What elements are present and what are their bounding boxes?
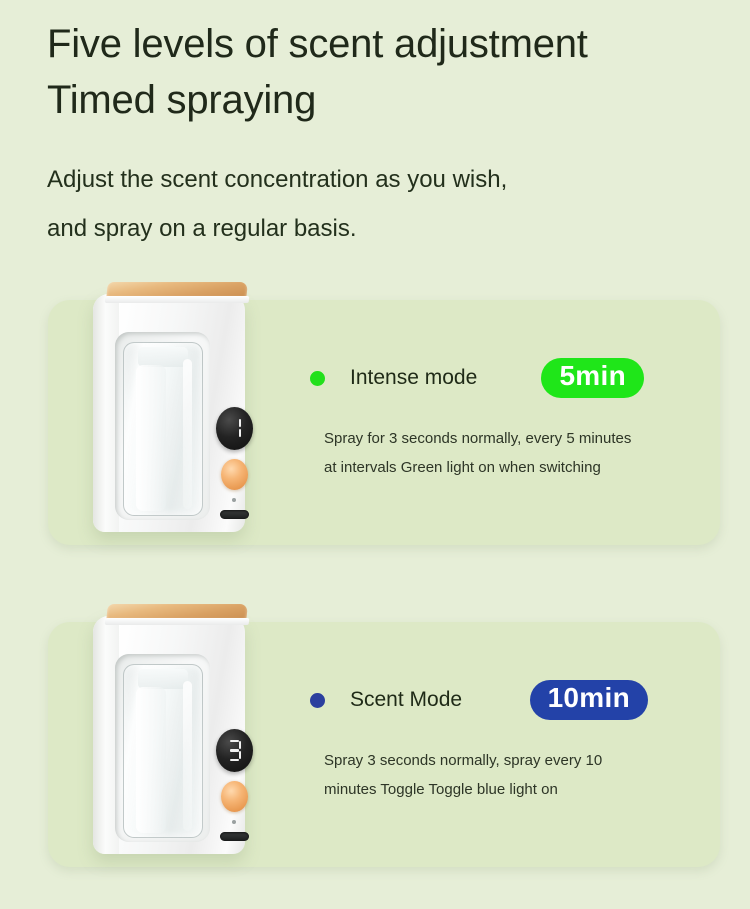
device-led-indicator	[232, 498, 236, 502]
description-line-2: at intervals Green light on when switchi…	[324, 453, 702, 482]
description-line-1: Spray 3 seconds normally, spray every 10	[324, 746, 702, 775]
subline-line-2: and spray on a regular basis.	[47, 207, 707, 250]
mode-row: Intense mode 5min	[310, 358, 710, 398]
description-line-2: minutes Toggle Toggle blue light on	[324, 775, 702, 804]
device-power-button[interactable]	[221, 781, 248, 812]
device-illustration	[85, 282, 251, 534]
mode-label: Intense mode	[350, 366, 477, 390]
card-content-intense: Intense mode 5min Spray for 3 seconds no…	[310, 358, 710, 482]
bottle-highlight	[183, 359, 192, 509]
segment-b	[239, 741, 242, 749]
duration-badge: 10min	[530, 680, 648, 719]
segment-d	[230, 759, 239, 762]
headline-line-1: Five levels of scent adjustment	[47, 16, 707, 72]
display-digit-1	[228, 418, 241, 440]
device-liquid-bottle	[123, 664, 203, 838]
mode-bullet-icon	[310, 693, 325, 708]
display-digit-3	[228, 740, 241, 762]
device-power-button[interactable]	[221, 459, 248, 490]
segment-a	[230, 740, 239, 743]
header-block: Five levels of scent adjustment Timed sp…	[47, 16, 707, 250]
bottle-neck	[138, 347, 188, 367]
device-led-indicator	[232, 820, 236, 824]
segment-c	[239, 751, 242, 759]
mode-row: Scent Mode 10min	[310, 680, 710, 720]
device-cap-lip	[105, 618, 250, 625]
device-liquid-bottle	[123, 342, 203, 516]
duration-badge: 5min	[541, 358, 644, 397]
mode-description: Spray for 3 seconds normally, every 5 mi…	[324, 424, 702, 482]
bottle-liquid	[136, 687, 166, 833]
segment-c	[239, 429, 242, 437]
product-infographic-page: { "page": { "background_color": "#e6eed7…	[0, 0, 750, 909]
device-cap-lip	[105, 296, 250, 303]
segment-g	[230, 749, 239, 752]
subline-line-1: Adjust the scent concentration as you wi…	[47, 158, 707, 201]
device-illustration	[85, 604, 251, 856]
device-usb-port	[220, 832, 249, 841]
headline-line-2: Timed spraying	[47, 72, 707, 128]
card-content-scent: Scent Mode 10min Spray 3 seconds normall…	[310, 680, 710, 804]
mode-label: Scent Mode	[350, 688, 462, 712]
mode-description: Spray 3 seconds normally, spray every 10…	[324, 746, 702, 804]
bottle-liquid	[136, 365, 166, 511]
bottle-neck	[138, 669, 188, 689]
bottle-highlight	[183, 681, 192, 831]
description-line-1: Spray for 3 seconds normally, every 5 mi…	[324, 424, 702, 453]
mode-bullet-icon	[310, 371, 325, 386]
mode-card-scent: Scent Mode 10min Spray 3 seconds normall…	[48, 622, 720, 867]
segment-b	[239, 419, 242, 427]
device-digital-display	[216, 407, 253, 450]
mode-card-intense: Intense mode 5min Spray for 3 seconds no…	[48, 300, 720, 545]
device-digital-display	[216, 729, 253, 772]
device-usb-port	[220, 510, 249, 519]
